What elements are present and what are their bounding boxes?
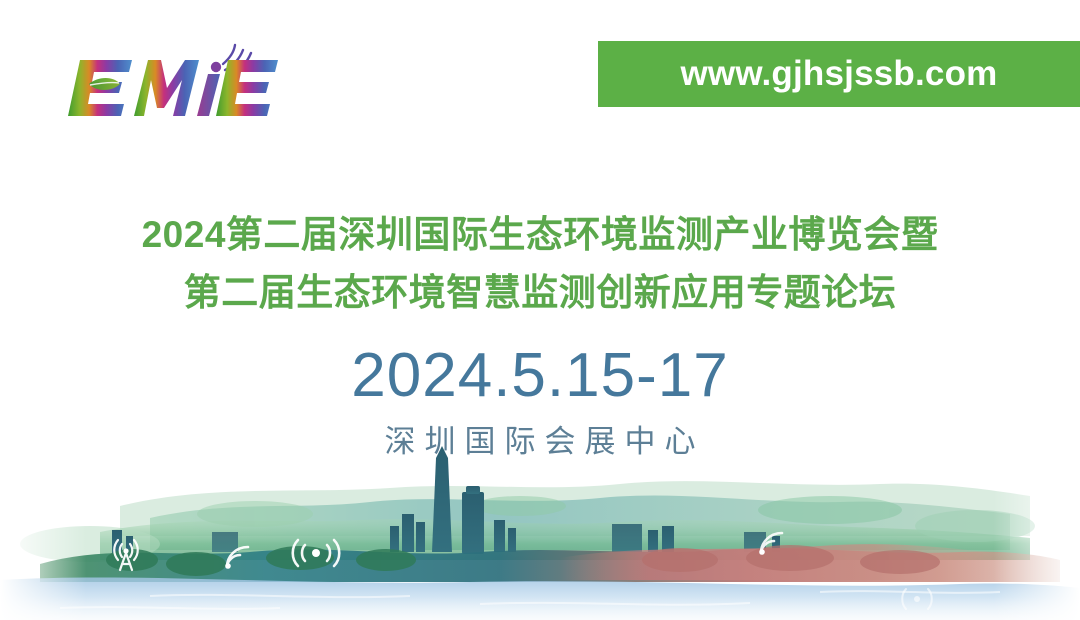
event-title-line-2: 第二届生态环境智慧监测创新应用专题论坛 <box>0 262 1080 316</box>
broadcast-icon <box>288 536 344 570</box>
poster-canvas: www.gjhsjssb.com 2024第二届深圳国际生态环境监测产业博览会暨… <box>0 0 1080 620</box>
emie-logo <box>68 38 278 130</box>
event-title-line-1: 2024第二届深圳国际生态环境监测产业博览会暨 <box>0 204 1080 258</box>
website-url-text: www.gjhsjssb.com <box>681 54 998 94</box>
broadcast-icon <box>898 586 936 612</box>
wifi-icon <box>756 528 788 558</box>
signal-tower-icon <box>106 534 146 574</box>
website-url-banner[interactable]: www.gjhsjssb.com <box>598 41 1080 107</box>
event-date: 2024.5.15-17 <box>0 340 1080 411</box>
logo-letter-e2 <box>216 60 278 116</box>
wifi-icon <box>222 542 254 572</box>
logo-letter-m <box>134 60 199 116</box>
